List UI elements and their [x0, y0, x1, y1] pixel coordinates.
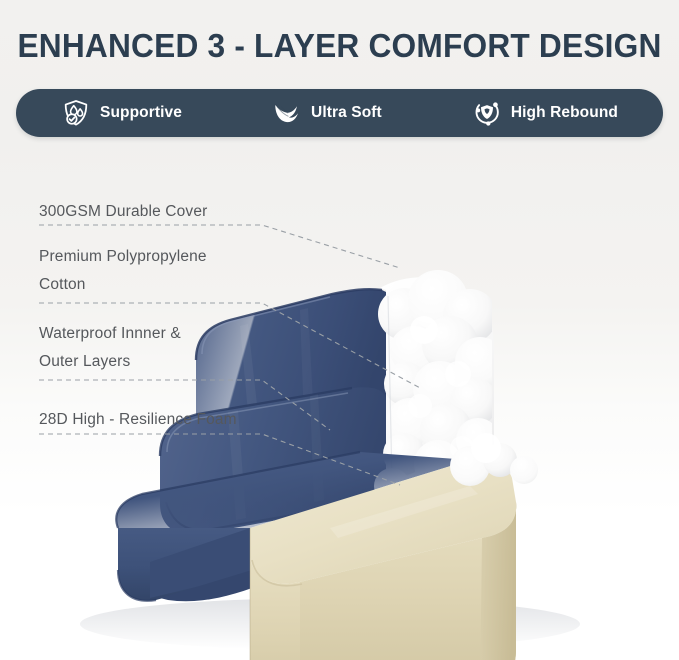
- badge-supportive: Supportive: [57, 98, 186, 128]
- annotation-line: 28D High - Resilience Foam: [39, 406, 237, 434]
- annotation-line: 300GSM Durable Cover: [39, 198, 207, 226]
- annotation-label-0: 300GSM Durable Cover: [39, 198, 207, 226]
- annotation-line: Cotton: [39, 271, 207, 299]
- annotation-line: Premium Polypropylene: [39, 243, 207, 271]
- badge-label: Ultra Soft: [311, 104, 382, 122]
- infographic-root: ENHANCED 3 - LAYER COMFORT DESIGN Suppor…: [0, 0, 679, 660]
- annotation-label-3: 28D High - Resilience Foam: [39, 406, 237, 434]
- annotation-label-1: Premium Polypropylene Cotton: [39, 243, 207, 299]
- badge-ultra-soft: Ultra Soft: [268, 98, 386, 128]
- page-title: ENHANCED 3 - LAYER COMFORT DESIGN: [14, 26, 666, 66]
- badge-label: Supportive: [100, 104, 182, 122]
- annotation-line: Outer Layers: [39, 348, 181, 376]
- annotation-label-2: Waterproof Innner & Outer Layers: [39, 320, 181, 376]
- shield-orbit-icon: [472, 98, 502, 128]
- feather-icon: [272, 98, 302, 128]
- badge-label: High Rebound: [511, 104, 618, 122]
- badge-high-rebound: High Rebound: [468, 98, 622, 128]
- annotation-line: Waterproof Innner &: [39, 320, 181, 348]
- shield-droplet-check-icon: [61, 98, 91, 128]
